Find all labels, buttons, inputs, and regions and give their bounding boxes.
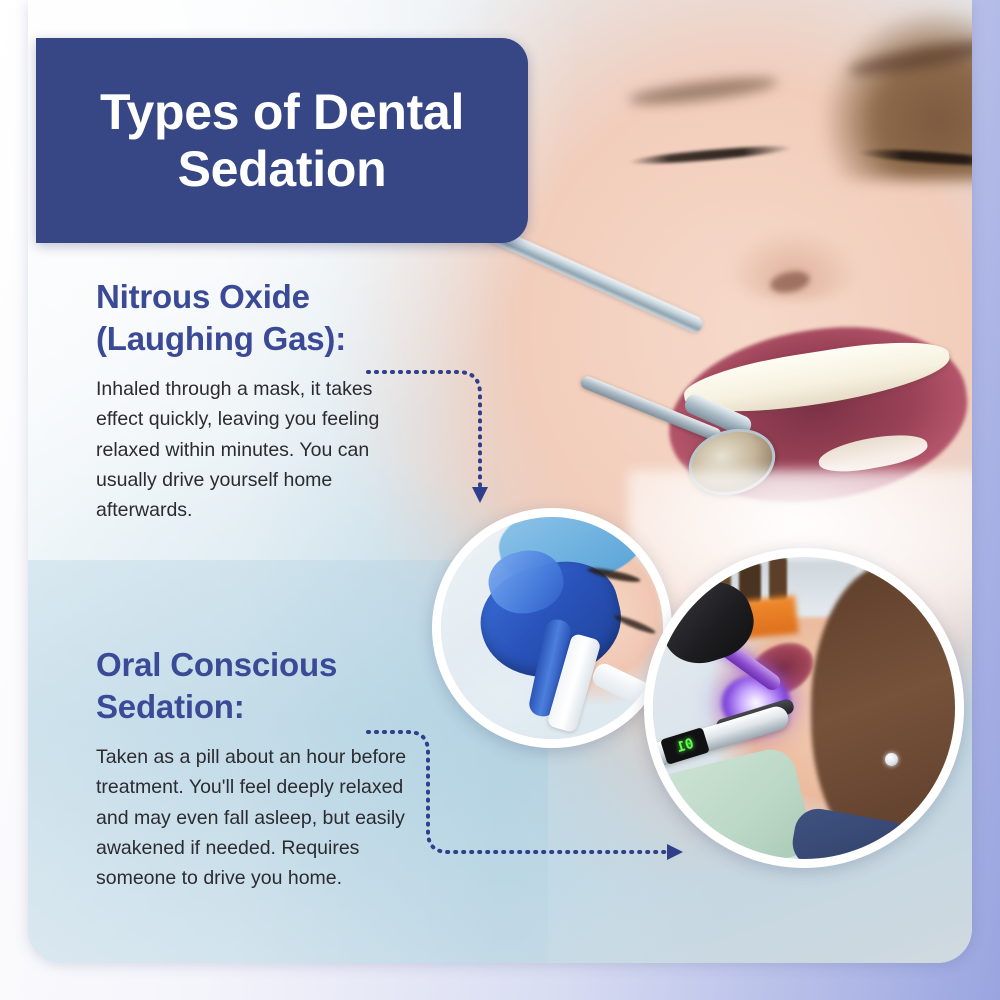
infographic-poster: Types of DentalSedation Nitrous Oxide(La… xyxy=(0,0,1000,1000)
section-nitrous-oxide: Nitrous Oxide(Laughing Gas): Inhaled thr… xyxy=(96,276,444,525)
page-title: Types of DentalSedation xyxy=(74,84,490,198)
oral-heading: Oral ConsciousSedation: xyxy=(96,644,444,728)
title-banner: Types of DentalSedation xyxy=(36,38,528,243)
circle-photo-nitrous xyxy=(432,508,672,748)
nitrous-body-text: Inhaled through a mask, it takes effect … xyxy=(96,374,416,524)
poster-card: Types of DentalSedation Nitrous Oxide(La… xyxy=(28,0,972,963)
oral-heading-line2: Sedation: xyxy=(96,688,245,725)
device-display-value: 01 xyxy=(675,736,696,756)
oral-heading-line1: Oral Conscious xyxy=(96,646,337,683)
page-title-line1: Types of Dental xyxy=(100,84,464,140)
photo-bottle-3 xyxy=(769,557,787,601)
nitrous-mask-photo xyxy=(441,517,663,739)
nitrous-heading: Nitrous Oxide(Laughing Gas): xyxy=(96,276,444,360)
photo-earring xyxy=(885,753,898,766)
section-oral-conscious-sedation: Oral ConsciousSedation: Taken as a pill … xyxy=(96,644,444,893)
photo-eyelash-left xyxy=(628,143,793,167)
uv-curing-light-photo: 01 xyxy=(653,557,955,859)
photo-eyebrow-left xyxy=(627,73,778,109)
page-title-line2: Sedation xyxy=(178,141,387,197)
oral-body-text: Taken as a pill about an hour before tre… xyxy=(96,742,416,892)
circle-photo-oral: 01 xyxy=(644,548,964,868)
device-display: 01 xyxy=(660,727,710,765)
nitrous-heading-line2: (Laughing Gas): xyxy=(96,320,346,357)
nitrous-heading-line1: Nitrous Oxide xyxy=(96,278,310,315)
